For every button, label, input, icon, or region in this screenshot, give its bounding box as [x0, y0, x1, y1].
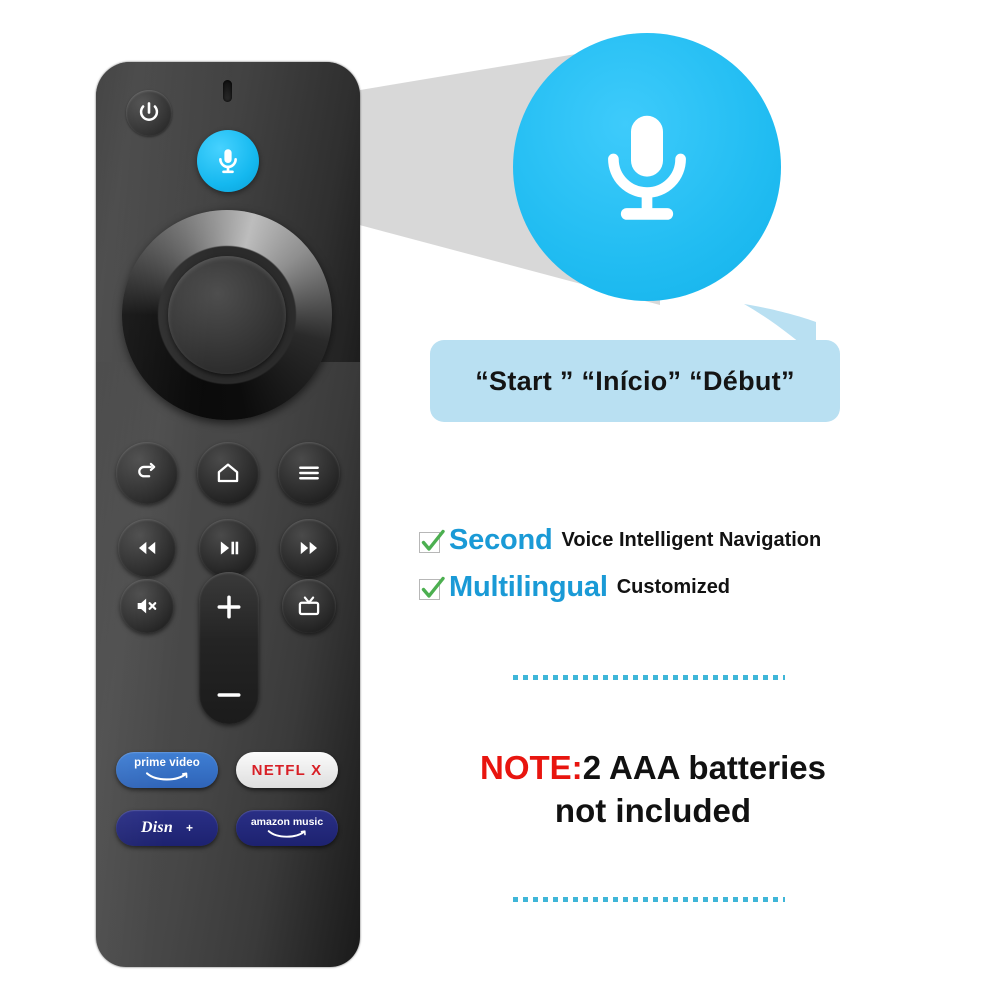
app-label-disney: Disn — [141, 819, 173, 837]
select-button[interactable] — [168, 256, 286, 374]
power-icon — [136, 100, 162, 126]
feature-highlight: Multilingual — [449, 571, 608, 604]
feature-description: Voice Intelligent Navigation — [562, 529, 822, 552]
dotted-divider — [513, 897, 785, 902]
feature-description: Customized — [617, 576, 730, 599]
note-text-line2: not included — [428, 790, 878, 831]
speech-bubble-text: “Start ” “Início” “Début” — [475, 366, 795, 397]
microphone-indicator — [223, 80, 232, 102]
app-button-amazon-music[interactable]: amazon music — [236, 810, 338, 846]
fast-forward-button[interactable] — [280, 519, 338, 577]
voice-feature-callout — [513, 33, 781, 301]
tv-icon — [296, 593, 322, 619]
directional-pad[interactable] — [122, 210, 332, 420]
remote-control: prime video NETFL X Disn + amazon music — [96, 62, 360, 967]
feature-item: Multilingual Customized — [418, 571, 821, 604]
app-label-disney-plus-suffix: + — [186, 821, 193, 835]
feature-highlight: Second — [449, 524, 553, 557]
note-label: NOTE: — [480, 749, 583, 786]
home-icon — [215, 460, 241, 486]
checkmark-icon — [418, 575, 446, 603]
speech-bubble: “Start ” “Início” “Début” — [430, 340, 840, 422]
mute-icon — [134, 593, 160, 619]
note-block: NOTE:2 AAA batteries not included — [428, 748, 878, 831]
app-label-amazon-music: amazon music — [251, 817, 323, 828]
volume-up-button[interactable] — [214, 592, 244, 622]
volume-down-button[interactable] — [214, 688, 244, 702]
play-pause-button[interactable] — [199, 519, 257, 577]
app-button-netflix[interactable]: NETFL X — [236, 752, 338, 788]
power-button[interactable] — [126, 90, 172, 136]
dotted-divider — [513, 675, 785, 680]
product-image: prime video NETFL X Disn + amazon music — [0, 0, 1000, 1000]
app-label-prime-video: prime video — [134, 758, 200, 770]
menu-button[interactable] — [278, 442, 340, 504]
menu-icon — [296, 460, 322, 486]
microphone-icon — [583, 103, 711, 231]
app-button-disney-plus[interactable]: Disn + — [116, 810, 218, 846]
rewind-button[interactable] — [118, 519, 176, 577]
back-button[interactable] — [116, 442, 178, 504]
note-text-line1: 2 AAA batteries — [583, 749, 826, 786]
feature-item: Second Voice Intelligent Navigation — [418, 524, 821, 557]
microphone-icon — [213, 146, 243, 176]
app-button-prime-video[interactable]: prime video — [116, 752, 218, 788]
play-pause-icon — [215, 535, 241, 561]
checkbox-checked-icon — [418, 528, 444, 554]
app-label-netflix: NETFL X — [252, 762, 323, 779]
volume-rocker[interactable] — [199, 572, 259, 724]
tv-button[interactable] — [282, 579, 336, 633]
back-icon — [134, 460, 160, 486]
mute-button[interactable] — [120, 579, 174, 633]
rewind-icon — [134, 535, 160, 561]
amazon-smile-icon — [265, 828, 309, 839]
checkbox-checked-icon — [418, 575, 444, 601]
fast-forward-icon — [296, 535, 322, 561]
voice-search-button[interactable] — [197, 130, 259, 192]
feature-list: Second Voice Intelligent Navigation Mult… — [418, 524, 821, 618]
checkmark-icon — [418, 528, 446, 556]
home-button[interactable] — [197, 442, 259, 504]
amazon-smile-icon — [144, 770, 190, 782]
